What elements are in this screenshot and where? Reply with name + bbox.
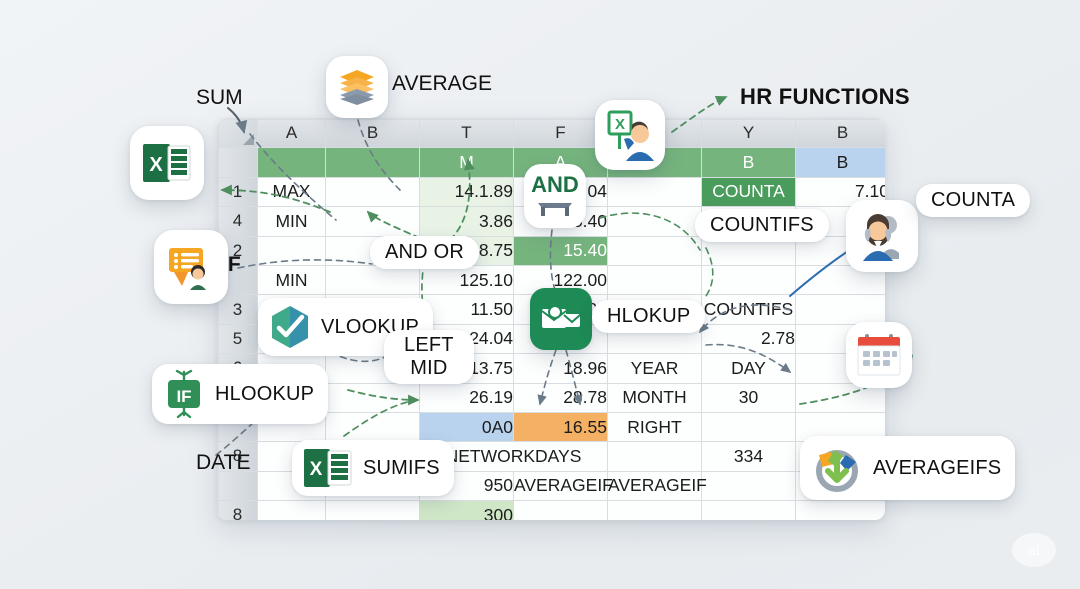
grid-cell[interactable]: COUNTA — [702, 177, 796, 206]
grid-cell[interactable] — [702, 501, 796, 520]
countifs-callout[interactable]: COUNTIFS — [695, 209, 829, 242]
row-header[interactable]: 4 — [218, 207, 258, 236]
grid-cell[interactable] — [608, 265, 702, 294]
layers-stack-icon — [336, 66, 378, 108]
hlokup-label: HLOKUP — [607, 305, 690, 328]
grid-cell[interactable] — [258, 236, 326, 265]
grid-cell[interactable]: 0A0 — [420, 412, 514, 441]
and-or-label: AND OR — [385, 241, 464, 264]
countifs-label: COUNTIFS — [710, 214, 814, 237]
counta-person-icon-tile[interactable] — [846, 200, 918, 272]
hlookup-callout[interactable]: IF HLOOKUP — [152, 364, 328, 424]
grid-cell[interactable] — [702, 265, 796, 294]
presentation-person-icon — [166, 242, 216, 292]
calendar-icon — [855, 332, 903, 378]
grid-cell[interactable] — [608, 236, 702, 265]
grid-cell[interactable]: RIGHT — [608, 412, 702, 441]
grid-cell[interactable] — [326, 501, 420, 520]
averageifs-callout[interactable]: AVERAGEIFS — [800, 436, 1015, 500]
and-or-callout[interactable]: AND OR — [370, 236, 479, 269]
sumifs-label: SUMIFS — [363, 457, 440, 480]
presentation-person-icon-tile[interactable] — [154, 230, 228, 304]
mid-label: MID — [410, 357, 447, 380]
grid-cell[interactable]: 125.10 — [420, 265, 514, 294]
if-function-icon: IF — [162, 370, 206, 418]
grid-cell[interactable] — [514, 501, 608, 520]
grid-cell[interactable] — [326, 265, 420, 294]
table-row[interactable]: 8300 — [218, 501, 886, 520]
column-header[interactable]: B — [326, 119, 420, 148]
hexagon-check-icon — [268, 304, 312, 350]
column-header-row[interactable]: A B T F Y B — [218, 119, 886, 148]
grid-cell[interactable]: B — [702, 148, 796, 177]
grid-cell[interactable] — [796, 501, 886, 520]
grid-cell[interactable]: 14.1.89 — [420, 177, 514, 206]
column-header[interactable]: T — [420, 119, 514, 148]
averageifs-label: AVERAGEIFS — [873, 457, 1001, 480]
column-header[interactable]: A — [258, 119, 326, 148]
ai-watermark: ai — [1012, 533, 1056, 567]
svg-text:IF: IF — [176, 387, 191, 406]
grid-cell[interactable] — [326, 383, 420, 412]
row-header[interactable]: 1 — [218, 177, 258, 206]
left-label: LEFT — [404, 334, 454, 357]
label-average: AVERAGE — [392, 72, 492, 96]
grid-cell[interactable] — [702, 471, 796, 500]
sumifs-callout[interactable]: X SUMIFS — [292, 440, 454, 496]
grid-cell[interactable] — [258, 148, 326, 177]
grid-cell[interactable] — [608, 207, 702, 236]
grid-cell[interactable] — [326, 207, 420, 236]
excel-sheet-icon: X — [302, 446, 354, 490]
excel-person-icon: X — [604, 109, 656, 161]
excel-person-icon-tile[interactable]: X — [595, 100, 665, 170]
hlookup-label: HLOOKUP — [215, 383, 314, 406]
grid-cell[interactable]: B — [796, 148, 886, 177]
table-furniture-icon — [535, 198, 575, 218]
grid-cell[interactable]: MAX — [258, 177, 326, 206]
grid-cell[interactable] — [702, 412, 796, 441]
grid-cell[interactable] — [796, 295, 886, 324]
and-icon-tile[interactable]: AND — [524, 164, 586, 228]
layers-icon-tile[interactable] — [326, 56, 388, 118]
grid-cell[interactable]: 26.19 — [420, 383, 514, 412]
grid-cell[interactable]: MIN — [258, 265, 326, 294]
grid-cell[interactable] — [608, 501, 702, 520]
grid-cell[interactable] — [326, 412, 420, 441]
row-header[interactable]: 3 — [218, 295, 258, 324]
hlookup-mail-icon-tile[interactable] — [530, 288, 592, 350]
svg-text:X: X — [149, 154, 163, 176]
grid-cell[interactable]: 300 — [420, 501, 514, 520]
grid-cell[interactable]: 15.40 — [514, 236, 608, 265]
calendar-icon-tile[interactable] — [846, 322, 912, 388]
grid-cell[interactable] — [608, 442, 702, 471]
column-header[interactable]: F — [514, 119, 608, 148]
label-date: DATE — [196, 451, 250, 475]
row-header[interactable] — [218, 471, 258, 500]
grid-cell[interactable] — [326, 148, 420, 177]
left-mid-callout[interactable]: LEFT MID — [384, 330, 474, 384]
hlokup-callout[interactable]: HLOKUP — [592, 300, 705, 333]
select-all-corner[interactable] — [218, 119, 258, 148]
grid-cell[interactable]: 28.78 — [514, 383, 608, 412]
envelope-search-icon — [540, 302, 582, 336]
grid-cell[interactable] — [258, 501, 326, 520]
grid-cell[interactable]: DAY — [702, 354, 796, 383]
grid-cell[interactable]: YEAR — [608, 354, 702, 383]
grid-cell[interactable]: 16.55 — [514, 412, 608, 441]
row-header[interactable]: 5 — [218, 324, 258, 353]
grid-cell[interactable]: 2.78 — [702, 324, 796, 353]
grid-cell[interactable] — [608, 177, 702, 206]
grid-cell[interactable]: AVERAGEIF — [608, 471, 702, 500]
counta-callout[interactable]: COUNTA — [916, 184, 1030, 217]
grid-cell[interactable] — [326, 177, 420, 206]
and-icon-label: AND — [531, 174, 579, 196]
svg-text:X: X — [615, 116, 625, 133]
grid-cell[interactable]: MONTH — [608, 383, 702, 412]
canvas-root: A B T F Y B MABB1MAX14.1.894.04COUNTA7.1… — [0, 0, 1080, 589]
pie-download-icon — [810, 442, 864, 494]
grid-cell[interactable]: AVERAGEIF — [514, 471, 608, 500]
grid-cell[interactable]: 11.50 — [420, 295, 514, 324]
excel-icon: X — [142, 142, 192, 184]
label-hr-functions: HR FUNCTIONS — [740, 84, 910, 110]
row-header[interactable] — [218, 148, 258, 177]
user-group-icon — [855, 209, 909, 263]
grid-cell[interactable]: COUNTIFS — [702, 295, 796, 324]
grid-cell[interactable]: 30 — [702, 383, 796, 412]
grid-cell[interactable]: 18.96 — [514, 354, 608, 383]
excel-icon-tile[interactable]: X — [130, 126, 204, 200]
column-header[interactable]: Y — [702, 119, 796, 148]
grid-cell[interactable]: MIN — [258, 207, 326, 236]
svg-text:X: X — [310, 459, 323, 480]
grid-cell[interactable]: 334 — [702, 442, 796, 471]
row-header[interactable]: 8 — [218, 501, 258, 520]
column-header[interactable]: B — [796, 119, 886, 148]
label-sum: SUM — [196, 86, 243, 110]
grid-cell[interactable]: M — [420, 148, 514, 177]
counta-label: COUNTA — [931, 189, 1015, 212]
grid-cell[interactable]: 3.86 — [420, 207, 514, 236]
